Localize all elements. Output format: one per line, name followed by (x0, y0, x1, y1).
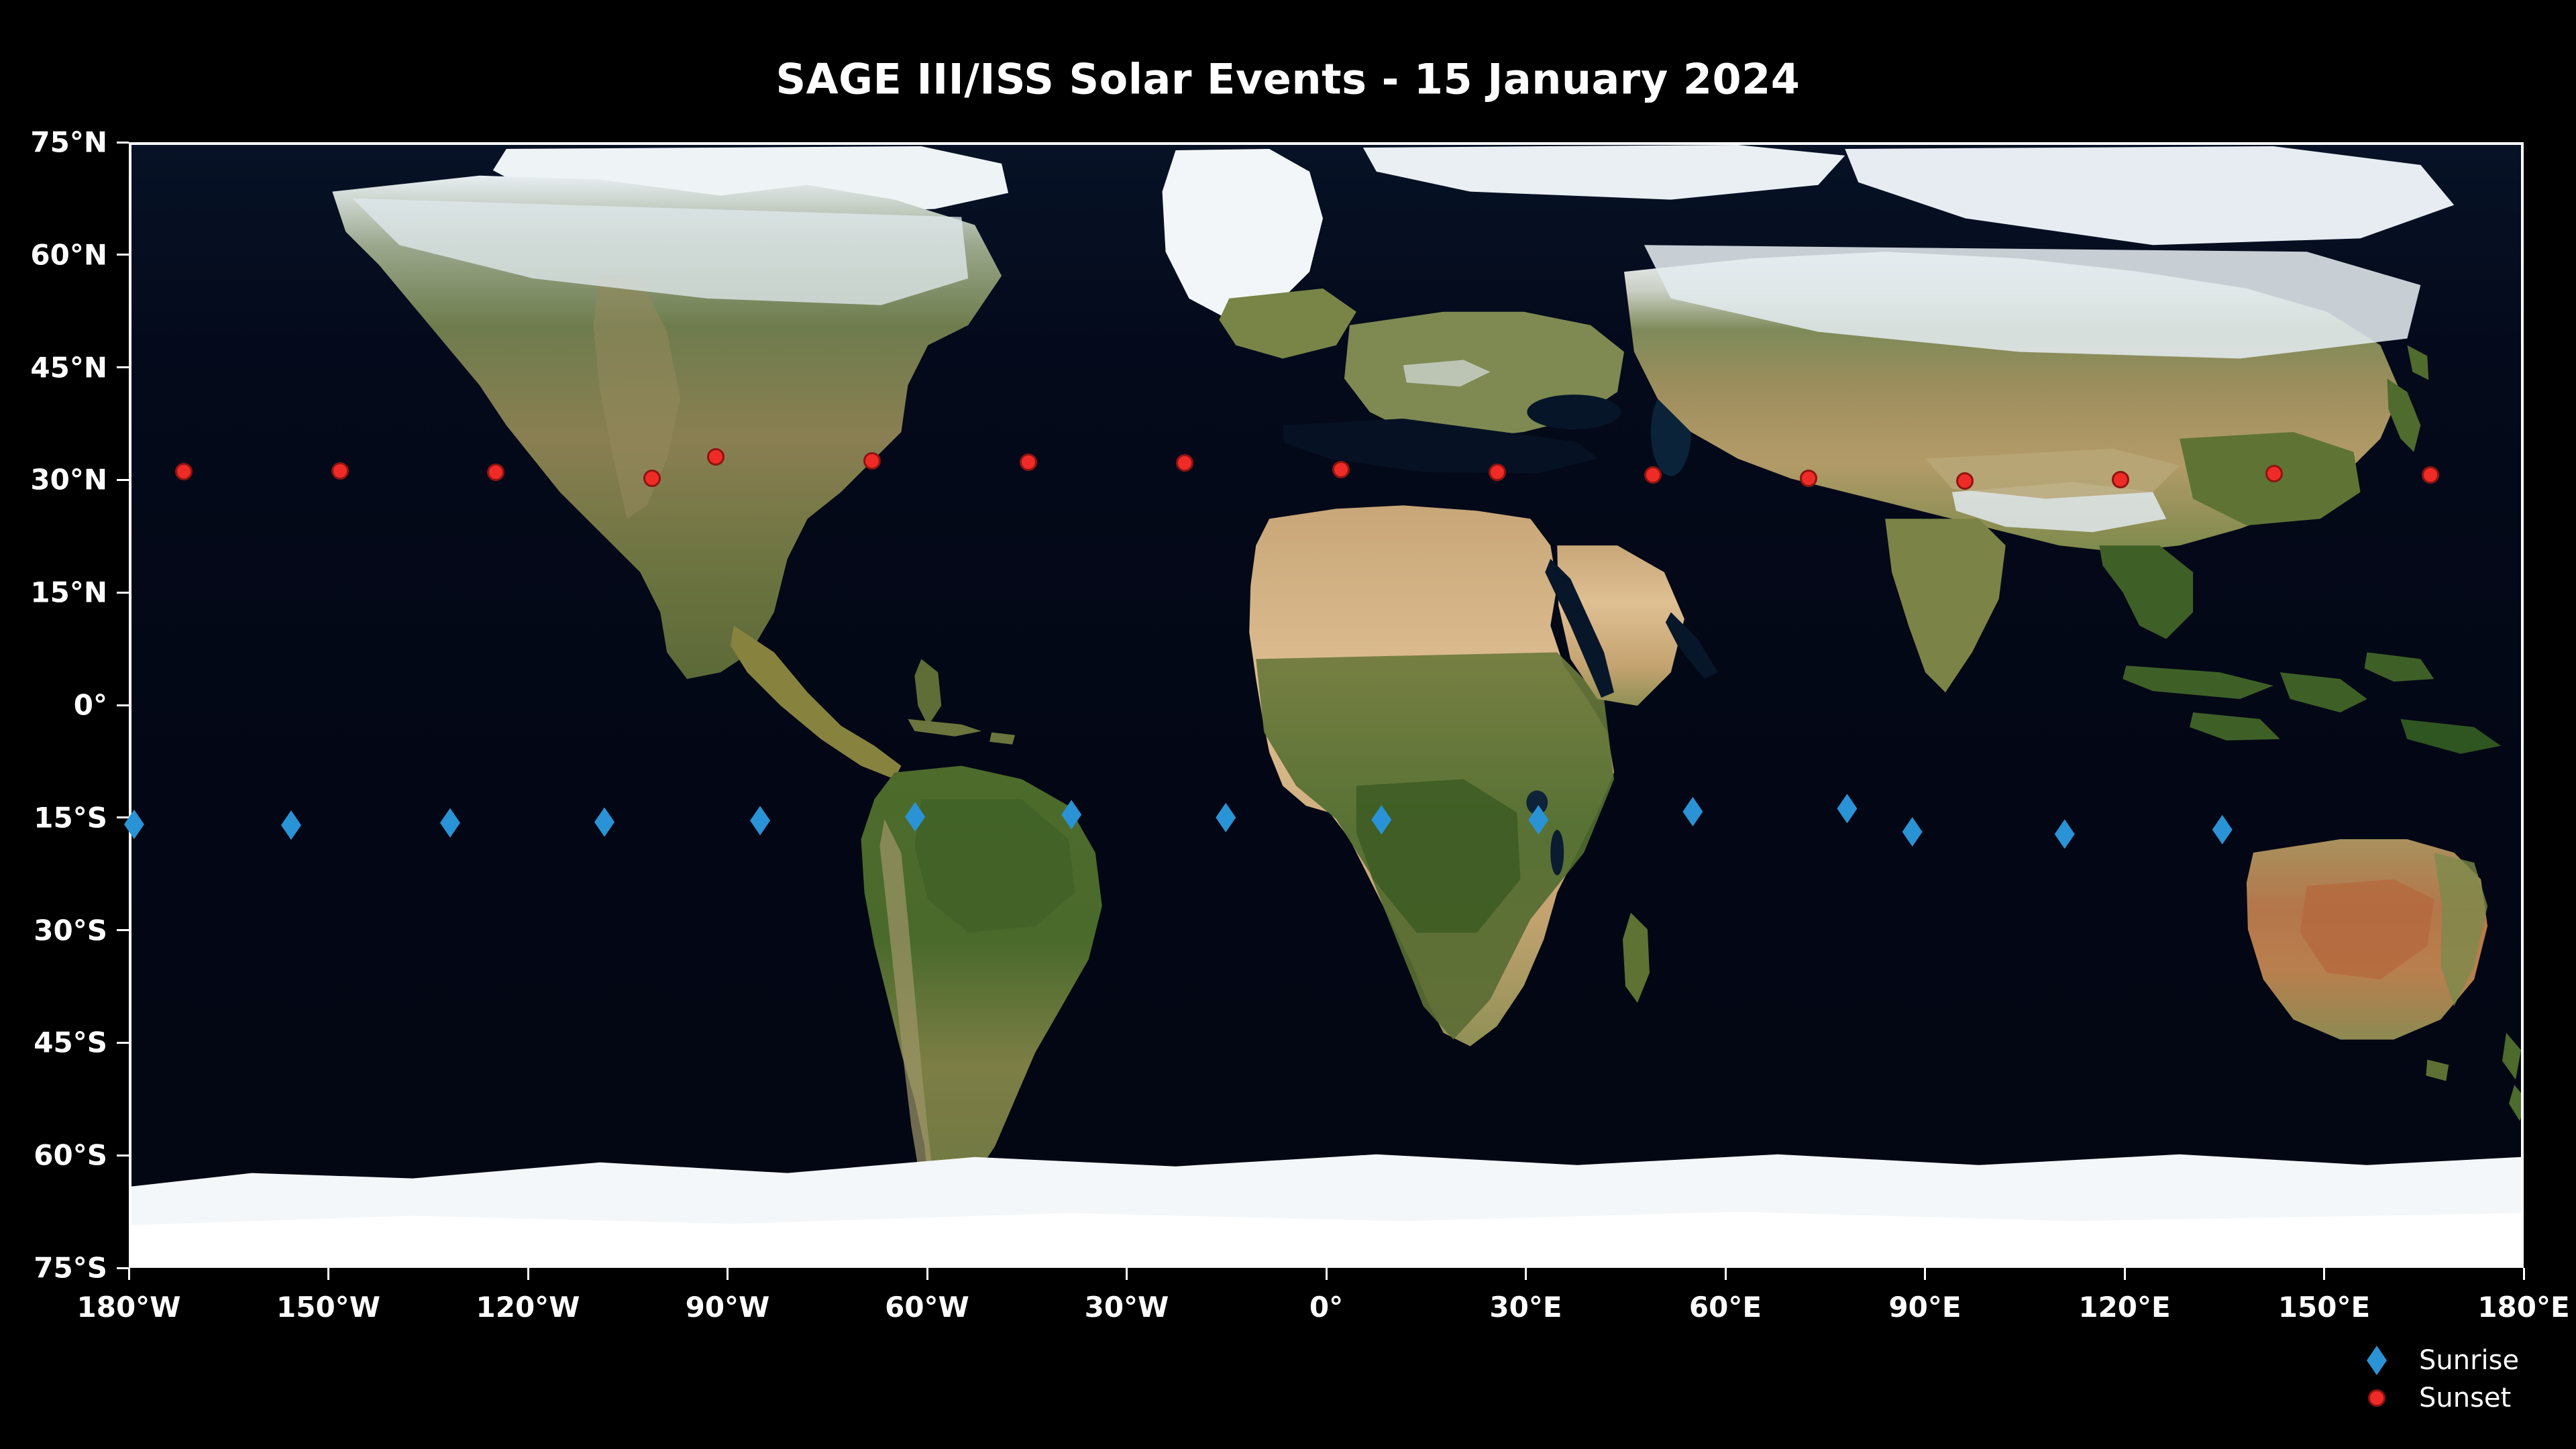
x-tick (527, 1268, 529, 1280)
y-tick-label: 15°N (0, 576, 107, 609)
y-tick-label: 15°S (0, 801, 107, 834)
x-tick-label: 90°E (1888, 1291, 1961, 1324)
x-tick (2323, 1268, 2325, 1280)
x-tick (128, 1268, 130, 1280)
sunset-event-marker (175, 463, 193, 480)
y-tick-label: 75°S (0, 1252, 107, 1285)
x-tick-label: 120°E (2078, 1291, 2170, 1324)
y-tick-label: 60°N (0, 238, 107, 271)
x-tick-label: 30°W (1085, 1291, 1169, 1324)
y-tick (117, 366, 129, 368)
y-tick (117, 1042, 129, 1044)
y-tick-label: 30°S (0, 914, 107, 947)
sunset-event-marker (1956, 472, 1974, 490)
x-tick (1725, 1268, 1727, 1280)
sunset-event-marker (1332, 461, 1350, 478)
x-tick (1525, 1268, 1527, 1280)
x-tick (727, 1268, 729, 1280)
legend-label-sunset: Sunset (2419, 1383, 2511, 1413)
x-tick (1126, 1268, 1128, 1280)
y-tick (117, 929, 129, 931)
sunset-event-marker (1800, 470, 1817, 487)
x-tick (327, 1268, 329, 1280)
y-tick-label: 45°N (0, 351, 107, 384)
x-tick-label: 180°E (2477, 1291, 2569, 1324)
sunset-event-marker (2422, 466, 2439, 484)
sunset-event-marker (1644, 466, 1662, 484)
y-tick (117, 1155, 129, 1157)
x-tick-label: 30°E (1489, 1291, 1562, 1324)
sunset-event-marker (1176, 454, 1193, 472)
chart-title: SAGE III/ISS Solar Events - 15 January 2… (0, 55, 2576, 104)
map-plot-area (129, 142, 2524, 1268)
x-tick-label: 60°E (1689, 1291, 1762, 1324)
x-tick-label: 150°W (276, 1291, 380, 1324)
sunset-event-marker (2112, 471, 2129, 488)
y-tick (117, 592, 129, 594)
y-tick-label: 75°N (0, 126, 107, 159)
world-basemap-svg (131, 145, 2521, 1265)
sunset-event-marker (707, 448, 724, 466)
chart-legend: Sunrise Sunset (2361, 1342, 2563, 1417)
sunset-event-marker (1489, 464, 1506, 481)
sunset-event-marker (643, 470, 661, 487)
x-tick-label: 90°W (686, 1291, 770, 1324)
y-tick (117, 816, 129, 818)
y-tick-label: 0° (0, 689, 107, 722)
map-image-clip (131, 145, 2521, 1265)
x-tick (1326, 1268, 1328, 1280)
sunset-event-marker (1020, 453, 1037, 471)
x-tick (2124, 1268, 2126, 1280)
x-tick (2523, 1268, 2525, 1280)
red-circle-marker-icon (2361, 1383, 2392, 1413)
blue-diamond-marker-icon (2361, 1345, 2392, 1376)
sunset-event-marker (487, 464, 504, 481)
y-tick-label: 60°S (0, 1139, 107, 1172)
x-tick (926, 1268, 928, 1280)
y-tick (117, 254, 129, 256)
legend-row-sunrise: Sunrise (2361, 1342, 2563, 1379)
x-tick (1924, 1268, 1926, 1280)
x-tick-label: 150°E (2278, 1291, 2370, 1324)
y-tick (117, 704, 129, 706)
y-tick (117, 1267, 129, 1269)
x-tick-label: 120°W (476, 1291, 580, 1324)
sunset-event-marker (331, 462, 349, 480)
x-tick-label: 180°W (77, 1291, 181, 1324)
figure-canvas: SAGE III/ISS Solar Events - 15 January 2… (0, 0, 2576, 1449)
sunset-event-marker (863, 452, 881, 470)
legend-row-sunset: Sunset (2361, 1379, 2563, 1417)
y-tick (117, 142, 129, 144)
y-tick (117, 479, 129, 481)
x-tick-label: 60°W (885, 1291, 969, 1324)
y-tick-label: 30°N (0, 464, 107, 496)
sunset-event-marker (2265, 465, 2283, 482)
y-tick-label: 45°S (0, 1026, 107, 1059)
legend-label-sunrise: Sunrise (2419, 1345, 2519, 1376)
x-tick-label: 0° (1309, 1291, 1343, 1324)
